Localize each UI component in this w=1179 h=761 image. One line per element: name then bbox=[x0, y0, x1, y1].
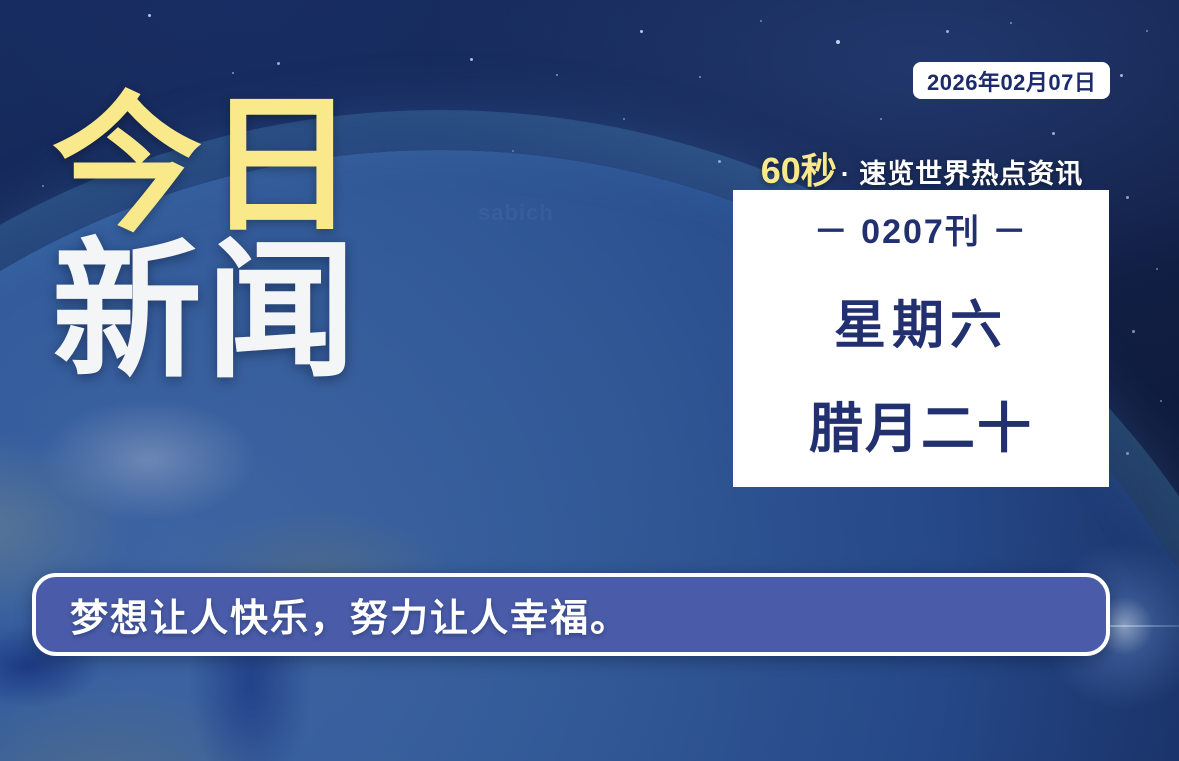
date-badge-label: 2026年02月07日 bbox=[927, 65, 1096, 97]
card-weekday: 星期六 bbox=[834, 283, 1008, 358]
tagline-rest: · 速览世界热点资讯 bbox=[841, 152, 1084, 191]
quote-banner: 梦想让人快乐，努力让人幸福。 bbox=[32, 573, 1110, 656]
watermark-text: sabich bbox=[478, 200, 554, 226]
card-lunar-date: 腊月二十 bbox=[809, 384, 1033, 463]
title-line-news: 新闻 bbox=[52, 242, 472, 382]
date-badge: 2026年02月07日 bbox=[913, 62, 1110, 99]
poster-title: 今日 新闻 bbox=[52, 96, 472, 381]
title-line-today: 今日 bbox=[52, 96, 472, 236]
card-issue-number: － 0207刊 － bbox=[814, 204, 1029, 253]
poster-canvas: sabich 2026年02月07日 今日 新闻 60秒 · 速览世界热点资讯 … bbox=[0, 0, 1179, 761]
quote-banner-text: 梦想让人快乐，努力让人幸福。 bbox=[70, 587, 630, 642]
tagline-highlight: 60秒 bbox=[761, 142, 837, 194]
date-info-card: － 0207刊 － 星期六 腊月二十 bbox=[733, 190, 1109, 487]
tagline: 60秒 · 速览世界热点资讯 bbox=[733, 142, 1111, 194]
